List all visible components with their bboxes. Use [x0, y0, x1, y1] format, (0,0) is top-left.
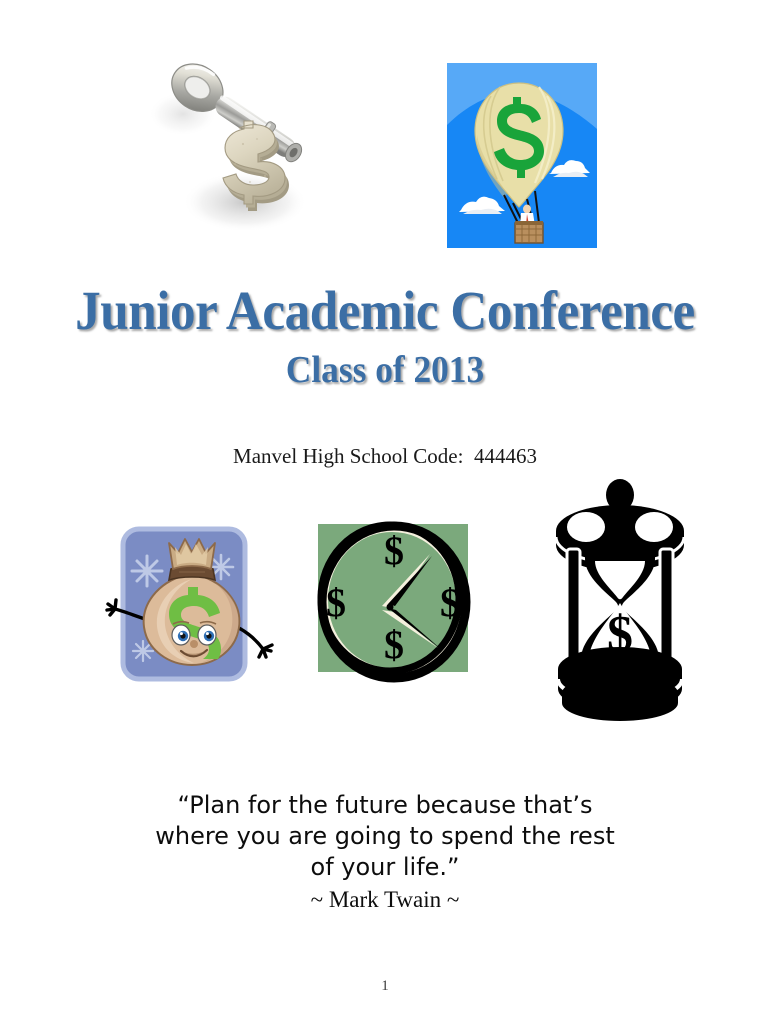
top-image-row [0, 0, 770, 265]
dollar-hourglass-image: $ [541, 473, 699, 728]
svg-text:$: $ [384, 528, 404, 573]
quote-block: “Plan for the future because that’s wher… [135, 790, 635, 915]
svg-text:$: $ [326, 580, 346, 625]
page-subtitle: Class of 2013 [27, 348, 743, 392]
quote-line-3: of your life.” [135, 852, 635, 883]
quote-line-1: “Plan for the future because that’s [135, 790, 635, 821]
middle-image-row: $ $ $ $ [0, 470, 770, 740]
money-bag-mascot-image [97, 523, 287, 688]
quote-attribution: ~ Mark Twain ~ [135, 885, 635, 915]
school-code-line: Manvel High School Code: 444463 [0, 444, 770, 469]
page-number: 1 [0, 978, 770, 995]
page-title: Junior Academic Conference [27, 282, 743, 340]
svg-text:$: $ [384, 622, 404, 667]
title-block: Junior Academic Conference Class of 2013 [0, 282, 770, 392]
dollar-clock-image: $ $ $ $ [310, 518, 485, 688]
dollar-hot-air-balloon-image [447, 63, 597, 248]
quote-line-2: where you are going to spend the rest [135, 821, 635, 852]
svg-text:$: $ [440, 580, 460, 625]
dollar-sign-key-image [137, 52, 337, 242]
